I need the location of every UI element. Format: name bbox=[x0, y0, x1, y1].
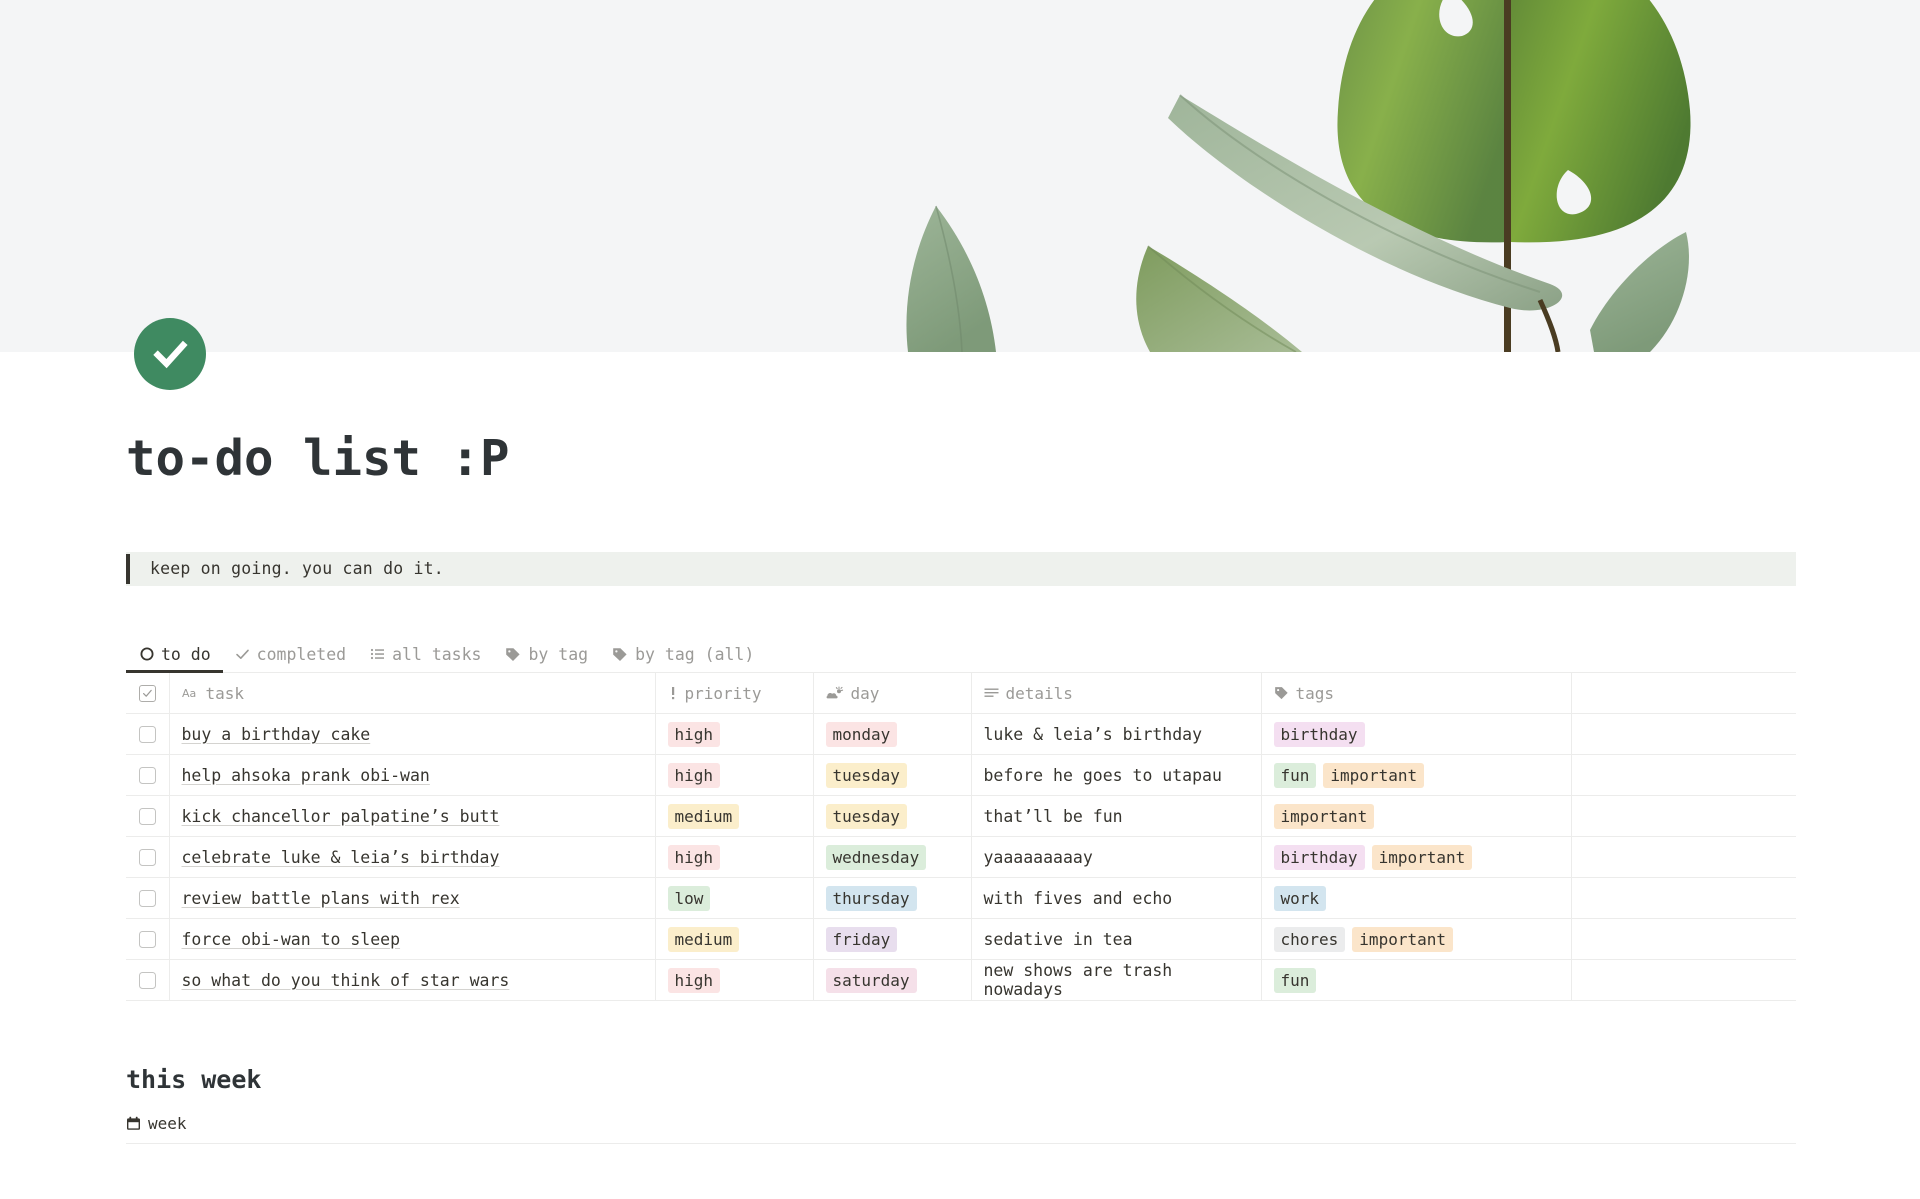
day-pill: thursday bbox=[826, 886, 917, 911]
cell-tags[interactable]: fun important bbox=[1261, 755, 1571, 796]
tag-list: fun bbox=[1274, 968, 1559, 993]
cell-details[interactable]: that’ll be fun bbox=[971, 796, 1261, 837]
tab-label: completed bbox=[257, 645, 346, 664]
task-link[interactable]: help ahsoka prank obi-wan bbox=[182, 766, 430, 785]
priority-pill: medium bbox=[668, 804, 740, 829]
cell-day[interactable]: tuesday bbox=[813, 796, 971, 837]
cell-empty[interactable] bbox=[1571, 837, 1796, 878]
row-checkbox[interactable] bbox=[126, 796, 169, 837]
table-body: buy a birthday cake high monday luke & l… bbox=[126, 714, 1796, 1001]
tag-list: important bbox=[1274, 804, 1559, 829]
checkbox-icon bbox=[139, 931, 156, 948]
cell-priority[interactable]: high bbox=[655, 837, 813, 878]
tag-pill: important bbox=[1323, 763, 1424, 788]
cell-day[interactable]: wednesday bbox=[813, 837, 971, 878]
task-link[interactable]: force obi-wan to sleep bbox=[182, 930, 401, 949]
column-header-label: tags bbox=[1296, 684, 1335, 703]
column-header-empty[interactable] bbox=[1571, 673, 1796, 714]
cell-priority[interactable]: high bbox=[655, 714, 813, 755]
cell-details[interactable]: sedative in tea bbox=[971, 919, 1261, 960]
table-row: help ahsoka prank obi-wan high tuesday b… bbox=[126, 755, 1796, 796]
day-pill: friday bbox=[826, 927, 898, 952]
cell-task[interactable]: so what do you think of star wars bbox=[169, 960, 655, 1001]
day-pill: saturday bbox=[826, 968, 917, 993]
text-lines-icon bbox=[984, 687, 999, 700]
tab-all-tasks[interactable]: all tasks bbox=[358, 645, 493, 672]
table-row: force obi-wan to sleep medium friday sed… bbox=[126, 919, 1796, 960]
page-icon[interactable] bbox=[134, 318, 206, 390]
tag-list: birthday important bbox=[1274, 845, 1559, 870]
day-pill: wednesday bbox=[826, 845, 927, 870]
column-header-label: details bbox=[1006, 684, 1073, 703]
tab-label: by tag (all) bbox=[635, 645, 754, 664]
column-header-label: priority bbox=[685, 684, 762, 703]
cell-day[interactable]: thursday bbox=[813, 878, 971, 919]
checkbox-icon bbox=[139, 767, 156, 784]
task-link[interactable]: kick chancellor palpatine’s butt bbox=[182, 807, 500, 826]
checkbox-icon bbox=[139, 726, 156, 743]
tag-list: fun important bbox=[1274, 763, 1559, 788]
list-icon bbox=[370, 647, 385, 661]
table-row: kick chancellor palpatine’s butt medium … bbox=[126, 796, 1796, 837]
page-content: to-do list :P keep on going. you can do … bbox=[0, 432, 1920, 1144]
view-tabs: to do completed all tasks by tag bbox=[126, 635, 1796, 673]
tag-pill: birthday bbox=[1274, 722, 1365, 747]
cell-tags[interactable]: work bbox=[1261, 878, 1571, 919]
table-row: buy a birthday cake high monday luke & l… bbox=[126, 714, 1796, 755]
quote-callout: keep on going. you can do it. bbox=[126, 552, 1796, 586]
tab-to-do[interactable]: to do bbox=[126, 645, 223, 672]
priority-pill: low bbox=[668, 886, 711, 911]
cell-task[interactable]: help ahsoka prank obi-wan bbox=[169, 755, 655, 796]
cell-details[interactable]: before he goes to utapau bbox=[971, 755, 1261, 796]
table-row: celebrate luke & leia’s birthday high we… bbox=[126, 837, 1796, 878]
weather-cloud-sun-icon bbox=[826, 686, 844, 700]
row-checkbox[interactable] bbox=[126, 919, 169, 960]
cell-empty[interactable] bbox=[1571, 796, 1796, 837]
check-icon bbox=[235, 647, 250, 661]
priority-pill: high bbox=[668, 722, 721, 747]
row-checkbox[interactable] bbox=[126, 714, 169, 755]
task-link[interactable]: buy a birthday cake bbox=[182, 725, 371, 744]
day-pill: tuesday bbox=[826, 763, 907, 788]
cell-tags[interactable]: fun bbox=[1261, 960, 1571, 1001]
tag-icon bbox=[505, 647, 521, 662]
cell-task[interactable]: celebrate luke & leia’s birthday bbox=[169, 837, 655, 878]
column-header-priority[interactable]: priority bbox=[655, 673, 813, 714]
tab-by-tag-all[interactable]: by tag (all) bbox=[600, 645, 766, 672]
task-link[interactable]: so what do you think of star wars bbox=[182, 971, 510, 990]
cell-priority[interactable]: high bbox=[655, 960, 813, 1001]
cell-details[interactable]: with fives and echo bbox=[971, 878, 1261, 919]
checkbox-icon bbox=[139, 808, 156, 825]
tag-pill: fun bbox=[1274, 968, 1317, 993]
this-week-heading: this week bbox=[126, 1065, 1794, 1094]
tab-label: all tasks bbox=[392, 645, 481, 664]
cell-task[interactable]: buy a birthday cake bbox=[169, 714, 655, 755]
table-row: review battle plans with rex low thursda… bbox=[126, 878, 1796, 919]
cell-day[interactable]: saturday bbox=[813, 960, 971, 1001]
tag-pill: important bbox=[1352, 927, 1453, 952]
cell-details[interactable]: yaaaaaaaaay bbox=[971, 837, 1261, 878]
details-text: with fives and echo bbox=[984, 889, 1173, 908]
svg-text:Aa: Aa bbox=[182, 687, 196, 700]
priority-pill: high bbox=[668, 763, 721, 788]
tag-icon bbox=[612, 647, 628, 662]
page-title: to-do list :P bbox=[126, 432, 1794, 486]
cell-priority[interactable]: high bbox=[655, 755, 813, 796]
checkbox-icon bbox=[139, 972, 156, 989]
row-checkbox[interactable] bbox=[126, 837, 169, 878]
tag-list: birthday bbox=[1274, 722, 1559, 747]
row-checkbox[interactable] bbox=[126, 755, 169, 796]
cell-empty[interactable] bbox=[1571, 878, 1796, 919]
table-header-row: Aa task priority bbox=[126, 673, 1796, 714]
row-checkbox[interactable] bbox=[126, 960, 169, 1001]
green-check-circle-icon bbox=[134, 318, 206, 390]
checkbox-icon bbox=[139, 849, 156, 866]
tag-pill: important bbox=[1372, 845, 1473, 870]
details-text: new shows are trash nowadays bbox=[984, 961, 1173, 999]
tag-pill: important bbox=[1274, 804, 1375, 829]
tag-list: work bbox=[1274, 886, 1559, 911]
cell-priority[interactable]: low bbox=[655, 878, 813, 919]
cell-tags[interactable]: important bbox=[1261, 796, 1571, 837]
tag-list: chores important bbox=[1274, 927, 1559, 952]
cell-details[interactable]: luke & leia’s birthday bbox=[971, 714, 1261, 755]
cell-empty[interactable] bbox=[1571, 919, 1796, 960]
cell-tags[interactable]: chores important bbox=[1261, 919, 1571, 960]
column-header-task[interactable]: Aa task bbox=[169, 673, 655, 714]
details-text: luke & leia’s birthday bbox=[984, 725, 1203, 744]
details-text: that’ll be fun bbox=[984, 807, 1123, 826]
exclamation-icon bbox=[668, 686, 678, 700]
callout-text: keep on going. you can do it. bbox=[130, 559, 444, 578]
column-header-label: day bbox=[851, 684, 880, 703]
priority-pill: high bbox=[668, 845, 721, 870]
cell-task[interactable]: force obi-wan to sleep bbox=[169, 919, 655, 960]
column-header-label: task bbox=[206, 684, 245, 703]
tag-pill: work bbox=[1274, 886, 1327, 911]
circle-icon bbox=[140, 647, 154, 661]
task-link[interactable]: celebrate luke & leia’s birthday bbox=[182, 848, 500, 867]
tab-week[interactable]: week bbox=[126, 1114, 187, 1133]
cell-details[interactable]: new shows are trash nowadays bbox=[971, 960, 1261, 1001]
tag-pill: chores bbox=[1274, 927, 1346, 952]
day-pill: tuesday bbox=[826, 804, 907, 829]
tab-label: week bbox=[148, 1114, 187, 1133]
tasks-table: Aa task priority bbox=[126, 673, 1796, 1002]
column-header-select[interactable] bbox=[126, 673, 169, 714]
cell-task[interactable]: kick chancellor palpatine’s butt bbox=[169, 796, 655, 837]
cell-day[interactable]: friday bbox=[813, 919, 971, 960]
calendar-icon bbox=[126, 1116, 141, 1131]
priority-pill: high bbox=[668, 968, 721, 993]
checkbox-icon bbox=[139, 890, 156, 907]
aa-text-icon: Aa bbox=[182, 687, 199, 700]
table-row: so what do you think of star wars high s… bbox=[126, 960, 1796, 1001]
tab-by-tag[interactable]: by tag bbox=[493, 645, 600, 672]
plant-leaves-photo bbox=[850, 0, 1920, 352]
details-text: sedative in tea bbox=[984, 930, 1133, 949]
priority-pill: medium bbox=[668, 927, 740, 952]
cell-empty[interactable] bbox=[1571, 960, 1796, 1001]
cell-priority[interactable]: medium bbox=[655, 796, 813, 837]
details-text: yaaaaaaaaay bbox=[984, 848, 1093, 867]
column-header-tags[interactable]: tags bbox=[1261, 673, 1571, 714]
day-pill: monday bbox=[826, 722, 898, 747]
row-checkbox[interactable] bbox=[126, 878, 169, 919]
tab-label: to do bbox=[161, 645, 211, 664]
column-header-details[interactable]: details bbox=[971, 673, 1261, 714]
tab-label: by tag bbox=[528, 645, 588, 664]
tag-pill: birthday bbox=[1274, 845, 1365, 870]
cell-empty[interactable] bbox=[1571, 714, 1796, 755]
cell-task[interactable]: review battle plans with rex bbox=[169, 878, 655, 919]
this-week-tabs: week bbox=[126, 1114, 1796, 1144]
tab-completed[interactable]: completed bbox=[223, 645, 358, 672]
task-link[interactable]: review battle plans with rex bbox=[182, 889, 460, 908]
tag-icon bbox=[1274, 686, 1289, 700]
column-header-day[interactable]: day bbox=[813, 673, 971, 714]
tag-pill: fun bbox=[1274, 763, 1317, 788]
cell-empty[interactable] bbox=[1571, 755, 1796, 796]
cell-priority[interactable]: medium bbox=[655, 919, 813, 960]
details-text: before he goes to utapau bbox=[984, 766, 1222, 785]
cell-day[interactable]: monday bbox=[813, 714, 971, 755]
checkbox-checked-icon bbox=[139, 685, 156, 702]
cell-day[interactable]: tuesday bbox=[813, 755, 971, 796]
page-cover-banner bbox=[0, 0, 1920, 352]
cell-tags[interactable]: birthday important bbox=[1261, 837, 1571, 878]
cell-tags[interactable]: birthday bbox=[1261, 714, 1571, 755]
